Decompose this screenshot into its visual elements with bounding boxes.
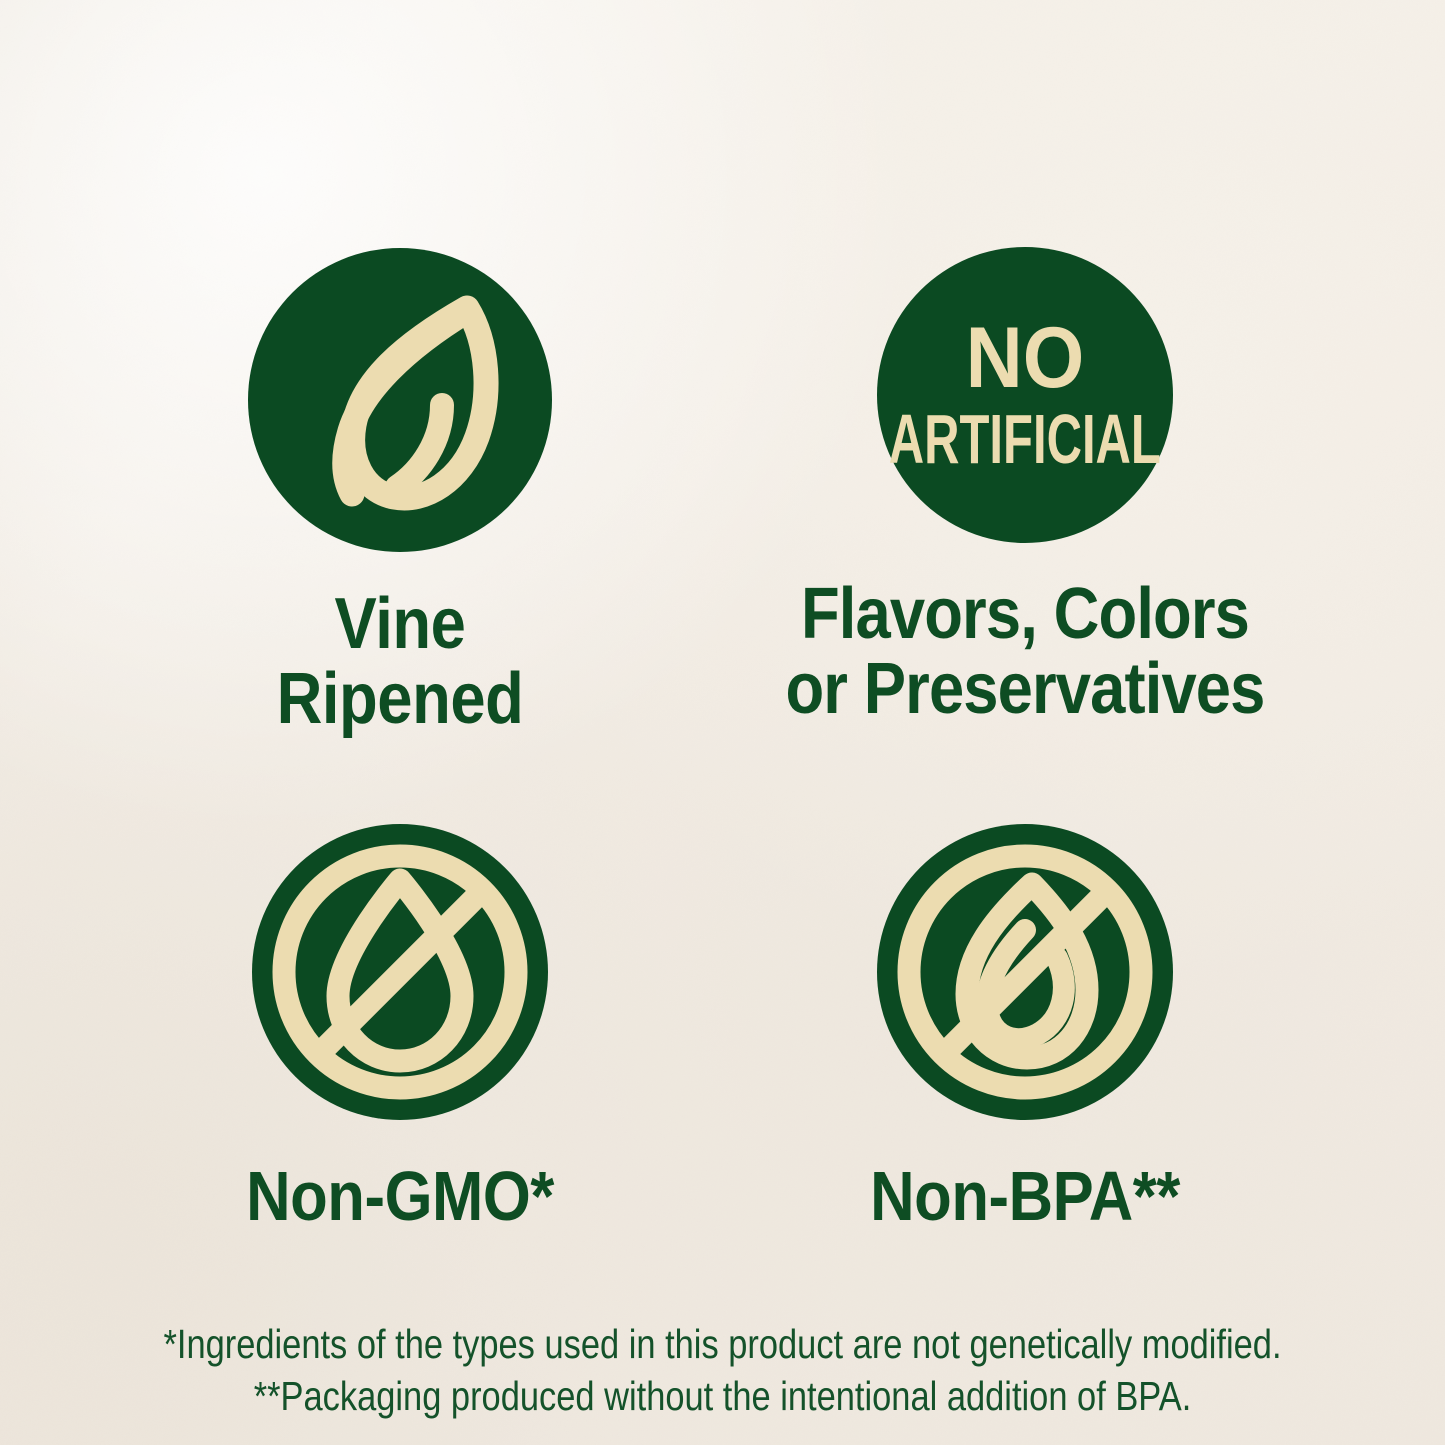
badge-card-vine-ripened: Vine Ripened xyxy=(145,245,655,737)
badge-text-artificial: ARTIFICIAL xyxy=(889,399,1161,478)
badge-text-no: NO xyxy=(966,309,1085,406)
badge-label-non-gmo: Non-GMO* xyxy=(176,1160,625,1233)
badge-card-non-bpa: Non-BPA** xyxy=(745,822,1305,1233)
footnote-block: *Ingredients of the types used in this p… xyxy=(0,1318,1445,1423)
badge-label-no-artificial: Flavors, Colors or Preservatives xyxy=(779,577,1272,727)
no-bpa-leaf-icon xyxy=(875,822,1175,1122)
badge-label-non-bpa: Non-BPA** xyxy=(779,1160,1272,1233)
no-gmo-droplet-icon xyxy=(250,822,550,1122)
no-artificial-text-badge: NO ARTIFICIAL xyxy=(875,245,1175,545)
leaf-icon xyxy=(245,245,555,555)
badge-card-non-gmo: Non-GMO* xyxy=(145,822,655,1233)
badge-card-no-artificial: NO ARTIFICIAL Flavors, Colors or Preserv… xyxy=(745,245,1305,727)
footnote-line-gmo: *Ingredients of the types used in this p… xyxy=(116,1318,1330,1370)
badge-label-vine-ripened: Vine Ripened xyxy=(176,587,625,737)
footnote-line-bpa: **Packaging produced without the intenti… xyxy=(116,1370,1330,1422)
